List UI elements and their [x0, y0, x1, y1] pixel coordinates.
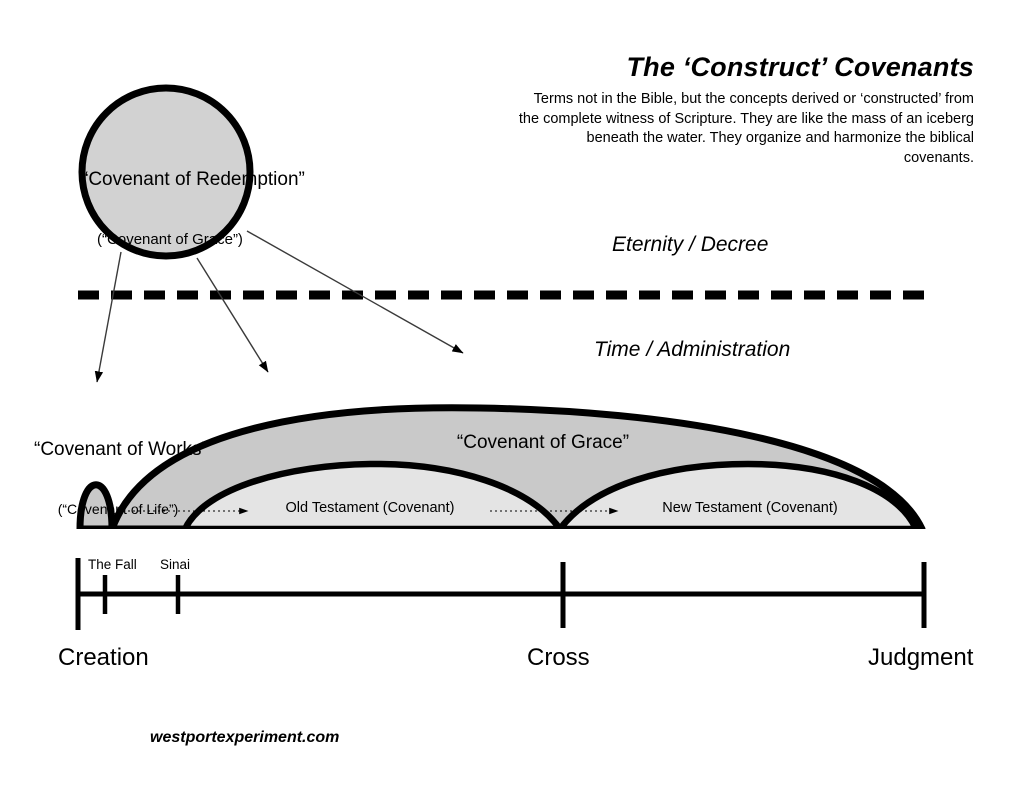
- time-administration-label: Time / Administration: [594, 338, 790, 363]
- covenant-of-redemption-secondary-text: (“Covenant of Grace”): [82, 231, 258, 249]
- page-title: The ‘Construct’ Covenants: [626, 52, 974, 84]
- source-credit: westportexperiment.com: [150, 729, 339, 748]
- covenant-of-works-secondary-text: (“Covenant of Life”): [34, 501, 202, 518]
- timeline-label-cross: Cross: [527, 644, 590, 672]
- covenant-of-redemption-label: “Covenant of Redemption” (“Covenant of G…: [82, 130, 258, 287]
- page-subtitle: Terms not in the Bible, but the concepts…: [514, 90, 974, 168]
- covenant-of-grace-label: “Covenant of Grace”: [343, 432, 743, 454]
- timeline-label-judgment: Judgment: [868, 644, 973, 672]
- diagram-page: The ‘Construct’ Covenants Terms not in t…: [0, 0, 1024, 791]
- covenant-of-redemption-primary-text: “Covenant of Redemption”: [82, 168, 258, 191]
- eternity-decree-label: Eternity / Decree: [612, 233, 768, 258]
- covenant-of-works-label: “Covenant of Works” (“Covenant of Life”): [34, 401, 202, 556]
- old-testament-label: Old Testament (Covenant): [200, 500, 540, 517]
- covenant-of-works-primary-text: “Covenant of Works”: [34, 439, 202, 462]
- timeline-label-sinai: Sinai: [160, 557, 190, 573]
- timeline-label-the-fall: The Fall: [88, 557, 137, 573]
- timeline-label-creation: Creation: [58, 644, 149, 672]
- new-testament-label: New Testament (Covenant): [580, 500, 920, 517]
